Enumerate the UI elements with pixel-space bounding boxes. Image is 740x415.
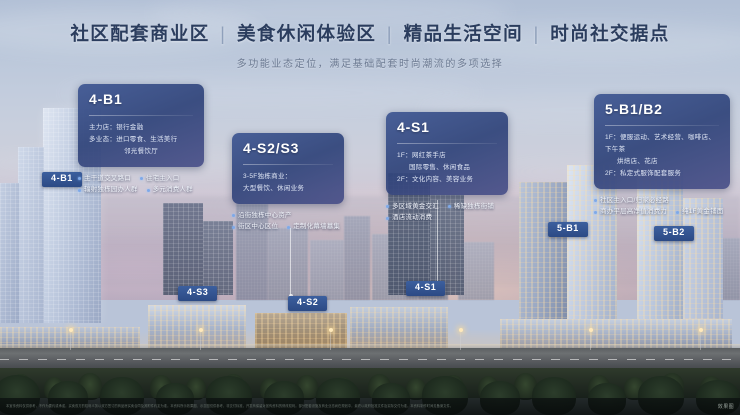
bullet-label: 主干道交叉路口 [84,174,131,184]
card-divider [605,125,719,126]
info-card-4-s1[interactable]: 4-S1 1F：网红茶手店 国际零售、休闲食品 2F：文化内容、美容业务 [386,112,508,195]
card-title: 5-B1/B2 [605,101,719,119]
tower-right-edge [683,198,723,330]
far-tower [310,240,344,300]
card-line: 2F：私定式服饰配套服务 [605,170,681,177]
callout-5-b1-b2: 5-B1/B2 1F：便服运动、艺术经营、咖啡店、下午茶 烘焙店、花店 2F：私… [594,94,730,217]
street-lamp [590,330,591,350]
headline-part-4: 时尚社交据点 [550,23,669,44]
bullet-dot-icon [78,177,81,180]
bullet-dot-icon [448,205,451,208]
bullet-label: 定制化幕墙墓集 [293,222,340,232]
rendering-notice: 效果图 [718,403,734,410]
far-tower [268,228,308,300]
legal-fine-print: 本宣传资料仅供参考，不作为要约或承诺，买卖双方的权利义务以双方签订的商品房买卖合… [6,404,710,409]
lane-marking [0,359,740,360]
callout-4-s1: 4-S1 1F：网红茶手店 国际零售、休闲食品 2F：文化内容、美容业务 多区域… [386,112,508,223]
card-title: 4-S1 [397,119,497,137]
bullet-label: 多元消费人群 [153,185,193,195]
card-divider [397,143,497,144]
card-line: 主力店：银行金融 [89,124,143,131]
street-lamp [200,330,201,350]
headline-part-2: 美食休闲体验区 [237,23,376,44]
bullet-label: 辐射独栋园办人群 [84,185,138,195]
bullet-dot-icon [232,226,235,229]
bullet-item: 社区主入口/归家必经路 [594,196,669,206]
card-bullets-4-s2-s3: 沿街独栋中心资产 街区中心区位 定制化幕墙墓集 [232,211,344,233]
card-line: 2F：文化内容、美容业务 [397,176,473,183]
card-description: 1F：网红茶手店 国际零售、休闲食品 2F：文化内容、美容业务 [397,150,497,186]
bullet-item: 稀缺独栋街铺 [448,202,494,212]
headline-separator: | [216,23,230,44]
bullet-dot-icon [78,189,81,192]
tower-left-edge [0,183,19,323]
callout-4-b1: 4-B1 主力店：银行金融 多业态：进口零食、生活美行 邻光餐饮厅 主干道交叉路… [78,84,204,195]
card-line: 1F：网红茶手店 [397,152,446,159]
card-divider [89,115,193,116]
card-title: 4-S2/S3 [243,140,333,158]
card-line: 国际零售、休闲食品 [397,162,497,174]
mid-tower [203,221,233,295]
header: 社区配套商业区 | 美食休闲体验区 | 精品生活空间 | 时尚社交据点 多功能业… [0,0,740,70]
mid-tower [163,203,203,295]
tag-4-s2[interactable]: 4-S2 [288,296,327,311]
card-line: 3-5F独栋商业： [243,173,292,180]
street-lamp [700,330,701,350]
tag-5-b2[interactable]: 5-B2 [654,226,694,241]
card-description: 主力店：银行金融 多业态：进口零食、生活美行 邻光餐饮厅 [89,122,193,158]
bullet-item: 主干道交叉路口 [78,174,131,184]
page-subtitle: 多功能业态定位，满足基础配套时尚潮流的多项选择 [0,55,740,70]
bullet-dot-icon [147,189,150,192]
bullet-label: 街区中心区位 [238,222,278,232]
card-line: 多业态：进口零食、生活美行 [89,136,177,143]
bullet-item: 住宅主入口 [140,174,180,184]
card-line: 邻光餐饮厅 [89,146,193,158]
tag-4-b1[interactable]: 4-B1 [42,172,82,187]
street-lamp [330,330,331,350]
bullet-item: 辐射独栋园办人群 [78,185,138,195]
callout-4-s2-s3: 4-S2/S3 3-5F独栋商业： 大型餐饮、休闲业务 沿街独栋中心资产 街区中… [232,133,344,232]
page-title: 社区配套商业区 | 美食休闲体验区 | 精品生活空间 | 时尚社交据点 [0,20,740,46]
card-description: 3-5F独栋商业： 大型餐饮、休闲业务 [243,171,333,195]
bullet-item: 商办平层高净值消费力 [594,207,667,217]
info-card-4-b1[interactable]: 4-B1 主力店：银行金融 多业态：进口零食、生活美行 邻光餐饮厅 [78,84,204,167]
bullet-dot-icon [232,214,235,217]
headline-separator: | [530,23,544,44]
card-line: 烘焙店、花店 [605,156,719,168]
bullet-item: 沿街独栋中心资产 [232,211,292,221]
card-line: 1F：便服运动、艺术经营、咖啡店、下午茶 [605,134,715,153]
bullet-item: 多元消费人群 [147,185,193,195]
bullet-label: 稀缺独栋街铺 [454,202,494,212]
bullet-item: 多区域黄金交汇 [386,202,439,212]
callout-stem-4-s2-s3 [290,228,291,296]
bullet-label: 酒店流动消费 [392,213,432,223]
bullet-dot-icon [594,199,597,202]
foreground-lawn [0,368,740,398]
bullet-item: 街区中心区位 [232,222,278,232]
tag-5-b1[interactable]: 5-B1 [548,222,588,237]
card-title: 4-B1 [89,91,193,109]
card-line: 大型餐饮、休闲业务 [243,185,304,192]
bullet-dot-icon [676,211,679,214]
card-bullets-4-s1: 多区域黄金交汇 稀缺独栋街铺 酒店流动消费 [386,202,508,224]
bullet-label: 住宅主入口 [146,174,180,184]
bullet-dot-icon [594,211,597,214]
bullet-dot-icon [386,205,389,208]
far-tower [344,216,370,300]
headline-part-1: 社区配套商业区 [70,23,209,44]
bullet-label: 纯1F黄金铺面 [682,207,724,217]
tag-4-s1[interactable]: 4-S1 [406,281,445,296]
bullet-item: 纯1F黄金铺面 [676,207,724,217]
info-card-5-b1-b2[interactable]: 5-B1/B2 1F：便服运动、艺术经营、咖啡店、下午茶 烘焙店、花店 2F：私… [594,94,730,189]
tower-4-b1-wing [18,147,44,323]
bullet-dot-icon [287,226,290,229]
card-bullets-4-b1: 主干道交叉路口 住宅主入口 辐射独栋园办人群 多元消费人群 [78,174,204,196]
bullet-label: 社区主入口/归家必经路 [600,196,669,206]
headline-part-3: 精品生活空间 [404,23,523,44]
street-lamp [70,330,71,350]
bullet-item: 定制化幕墙墓集 [287,222,340,232]
bullet-label: 沿街独栋中心资产 [238,211,292,221]
street-lamp [460,330,461,350]
bullet-label: 商办平层高净值消费力 [600,207,667,217]
info-card-4-s2-s3[interactable]: 4-S2/S3 3-5F独栋商业： 大型餐饮、休闲业务 [232,133,344,204]
rendering-poster: 社区配套商业区 | 美食休闲体验区 | 精品生活空间 | 时尚社交据点 多功能业… [0,0,740,415]
bullet-label: 多区域黄金交汇 [392,202,439,212]
bullet-dot-icon [140,177,143,180]
card-bullets-5-b1-b2: 社区主入口/归家必经路 商办平层高净值消费力 纯1F黄金铺面 [594,196,730,218]
card-divider [243,164,333,165]
tag-4-s3[interactable]: 4-S3 [178,286,217,301]
card-description: 1F：便服运动、艺术经营、咖啡店、下午茶 烘焙店、花店 2F：私定式服饰配套服务 [605,132,719,180]
bullet-dot-icon [386,217,389,220]
bullet-item: 酒店流动消费 [386,213,432,223]
disclaimer-bar: 本宣传资料仅供参考，不作为要约或承诺，买卖双方的权利义务以双方签订的商品房买卖合… [0,398,740,415]
tower-5-b1 [519,182,567,330]
headline-separator: | [383,23,397,44]
